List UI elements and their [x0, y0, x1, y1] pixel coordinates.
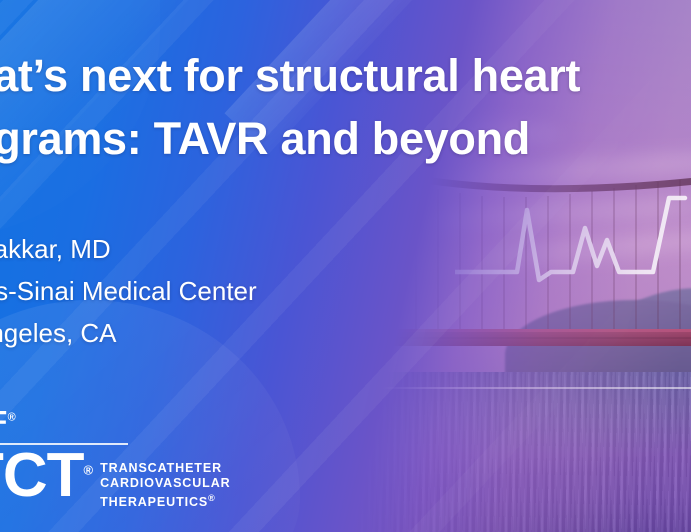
speaker-location: Angeles, CA [0, 312, 612, 354]
speaker-name: Makkar, MD [0, 228, 612, 270]
slide-title-line-1: hat’s next for structural heart [0, 44, 691, 107]
presentation-slide: hat’s next for structural heart ograms: … [0, 0, 691, 532]
tct-logo-text: TCT [0, 441, 84, 510]
slide-title-line-2: ograms: TAVR and beyond [0, 107, 691, 170]
tct-tagline-line-1: TRANSCATHETER [100, 461, 230, 476]
slide-title: hat’s next for structural heart ograms: … [0, 44, 691, 170]
crf-registered-mark: ® [8, 412, 17, 424]
tct-tagline-line-3-wrap: THERAPEUTICS® [100, 491, 230, 510]
speaker-institution: ars-Sinai Medical Center [0, 270, 612, 312]
crf-logo-text: RF [0, 406, 8, 438]
crf-logo: RF® [0, 408, 231, 437]
tct-tagline-registered-mark: ® [208, 493, 216, 503]
tct-logo: TCT® [0, 447, 92, 506]
speaker-block: Makkar, MD ars-Sinai Medical Center Ange… [0, 228, 612, 354]
tct-tagline: TRANSCATHETER CARDIOVASCULAR THERAPEUTIC… [100, 461, 230, 510]
tct-tagline-line-2: CARDIOVASCULAR [100, 476, 230, 491]
tct-registered-mark: ® [84, 462, 93, 477]
tct-logo-row: TCT® TRANSCATHETER CARDIOVASCULAR THERAP… [0, 447, 231, 510]
tct-tagline-line-3: THERAPEUTICS [100, 495, 208, 509]
crf-tct-logo-lockup: RF® TCT® TRANSCATHETER CARDIOVASCULAR TH… [0, 408, 231, 510]
